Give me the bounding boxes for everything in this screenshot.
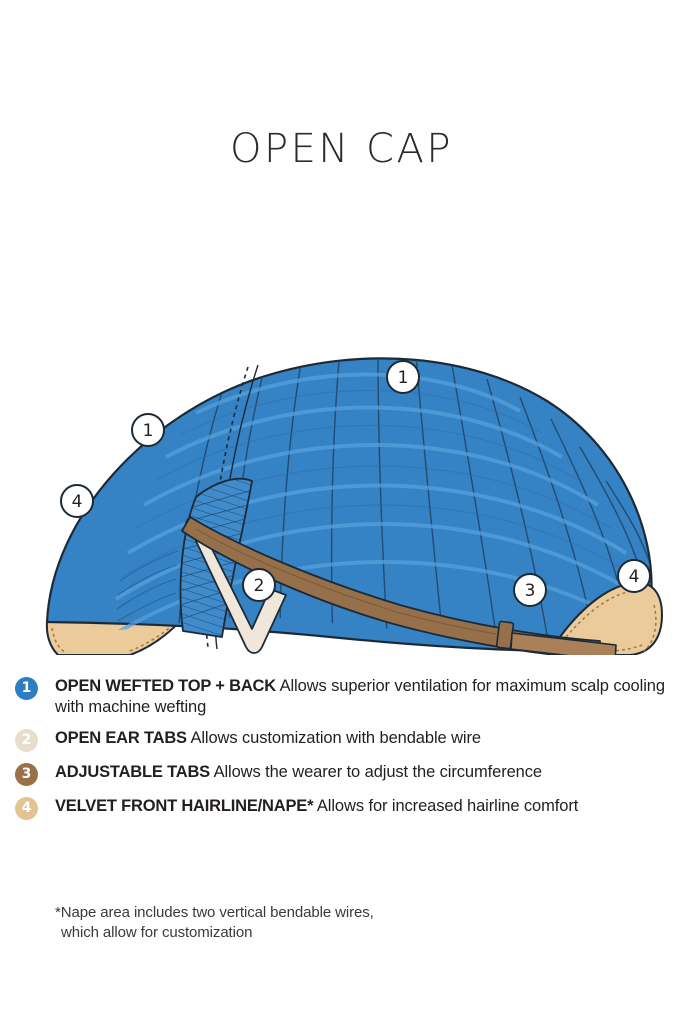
- footnote-line-1: *Nape area includes two vertical bendabl…: [55, 904, 374, 921]
- callout-4-front-hairline: 4: [61, 485, 93, 517]
- legend-lead-3: ADJUSTABLE TABS: [55, 763, 210, 781]
- footnote-line-2: which allow for customization: [55, 923, 374, 943]
- callout-4-nape: 4: [618, 560, 650, 592]
- svg-text:4: 4: [629, 567, 640, 587]
- legend-description-4: Allows for increased hairline comfort: [317, 797, 578, 815]
- open-cap-infographic-page: OPEN CAP: [0, 0, 683, 1024]
- legend-badge-4: 4: [15, 797, 38, 820]
- svg-text:1: 1: [398, 368, 409, 388]
- legend-description-3: Allows the wearer to adjust the circumfe…: [214, 763, 542, 781]
- svg-text:3: 3: [525, 581, 536, 601]
- legend-badge-1: 1: [15, 677, 38, 700]
- legend-footnote: *Nape area includes two vertical bendabl…: [55, 903, 374, 943]
- legend-lead-1: OPEN WEFTED TOP + BACK: [55, 677, 276, 695]
- svg-text:1: 1: [143, 421, 154, 441]
- legend-text-2: OPEN EAR TABS Allows customization with …: [55, 728, 481, 749]
- svg-text:2: 2: [254, 576, 265, 596]
- page-title: OPEN CAP: [0, 126, 683, 172]
- legend-item-1: 1 OPEN WEFTED TOP + BACK Allows superior…: [0, 676, 683, 718]
- svg-text:4: 4: [72, 492, 83, 512]
- legend-text-4: VELVET FRONT HAIRLINE/NAPE* Allows for i…: [55, 796, 578, 817]
- legend-badge-2: 2: [15, 729, 38, 752]
- legend-badge-3: 3: [15, 763, 38, 786]
- callout-3-adjustable-tab: 3: [514, 574, 546, 606]
- callout-2-ear-tab: 2: [243, 569, 275, 601]
- legend-item-3: 3 ADJUSTABLE TABS Allows the wearer to a…: [0, 762, 683, 786]
- feature-legend-list: 1 OPEN WEFTED TOP + BACK Allows superior…: [0, 676, 683, 830]
- legend-item-4: 4 VELVET FRONT HAIRLINE/NAPE* Allows for…: [0, 796, 683, 820]
- legend-text-3: ADJUSTABLE TABS Allows the wearer to adj…: [55, 762, 542, 783]
- legend-text-1: OPEN WEFTED TOP + BACK Allows superior v…: [55, 676, 670, 718]
- callout-1-top: 1: [387, 361, 419, 393]
- legend-description-2: Allows customization with bendable wire: [190, 729, 481, 747]
- legend-lead-2: OPEN EAR TABS: [55, 729, 187, 747]
- legend-lead-4: VELVET FRONT HAIRLINE/NAPE*: [55, 797, 313, 815]
- callout-1-front: 1: [132, 414, 164, 446]
- cap-illustration: 1 1 2 3 4: [0, 185, 683, 655]
- legend-item-2: 2 OPEN EAR TABS Allows customization wit…: [0, 728, 683, 752]
